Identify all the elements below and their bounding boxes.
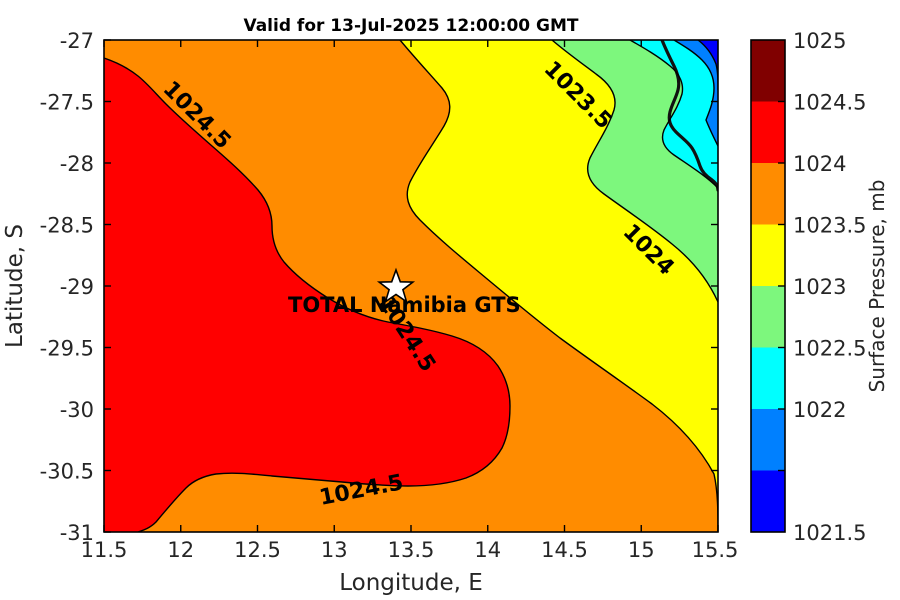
y-axis-title: Latitude, S [2, 224, 28, 348]
x-tick-label: 12.5 [234, 538, 281, 562]
colorbar-tick-label: 1023 [793, 275, 846, 299]
x-tick-label: 15 [628, 538, 655, 562]
y-tick-label: -30.5 [40, 460, 94, 484]
colorbar-swatch-1024p5[interactable] [751, 102, 785, 164]
x-tick-label: 13 [321, 538, 348, 562]
colorbar-swatch-1024[interactable] [751, 163, 785, 225]
figure-canvas: 1024.5 1023.5 1024 1024.5 1024.5 TOTAL N… [0, 0, 900, 600]
colorbar-tick-label: 1021.5 [793, 521, 866, 545]
colorbar-tick-label: 1024 [793, 152, 846, 176]
y-tick-label: -31 [60, 521, 94, 545]
x-axis-title: Longitude, E [339, 570, 483, 596]
page-title: Valid for 13-Jul-2025 12:00:00 GMT [243, 16, 578, 36]
y-tick-label: -28.5 [40, 214, 94, 238]
y-tick-label: -29.5 [40, 337, 94, 361]
colorbar-swatch-1022[interactable] [751, 409, 785, 471]
x-tick-label: 13.5 [388, 538, 435, 562]
colorbar-swatch-1023p5[interactable] [751, 225, 785, 287]
colorbar-tick-label: 1025 [793, 29, 846, 53]
contour-plot-figure: 1024.5 1023.5 1024 1024.5 1024.5 TOTAL N… [0, 0, 900, 600]
y-tick-label: -30 [60, 398, 94, 422]
colorbar-swatch-1021p5[interactable] [751, 471, 785, 533]
x-tick-label: 14 [474, 538, 501, 562]
x-tick-labels: 11.5 12 12.5 13 13.5 14 14.5 15 15.5 [81, 538, 739, 562]
colorbar-swatch-1025[interactable] [751, 40, 785, 102]
y-tick-label: -27 [60, 29, 94, 53]
colorbar-swatch-1022p5[interactable] [751, 348, 785, 410]
colorbar-tick-label: 1022 [793, 398, 846, 422]
colorbar-swatch-1023[interactable] [751, 286, 785, 348]
y-tick-label: -27.5 [40, 91, 94, 115]
colorbar-tick-label: 1023.5 [793, 214, 866, 238]
station-label: TOTAL Namibia GTS [288, 293, 521, 317]
x-tick-label: 14.5 [541, 538, 588, 562]
x-tick-label: 15.5 [692, 538, 739, 562]
y-tick-label: -28 [60, 152, 94, 176]
colorbar-tick-label: 1022.5 [793, 337, 866, 361]
x-tick-label: 12 [167, 538, 194, 562]
colorbar-title: Surface Pressure, mb [865, 180, 889, 393]
colorbar-tick-label: 1024.5 [793, 91, 866, 115]
y-tick-label: -29 [60, 275, 94, 299]
